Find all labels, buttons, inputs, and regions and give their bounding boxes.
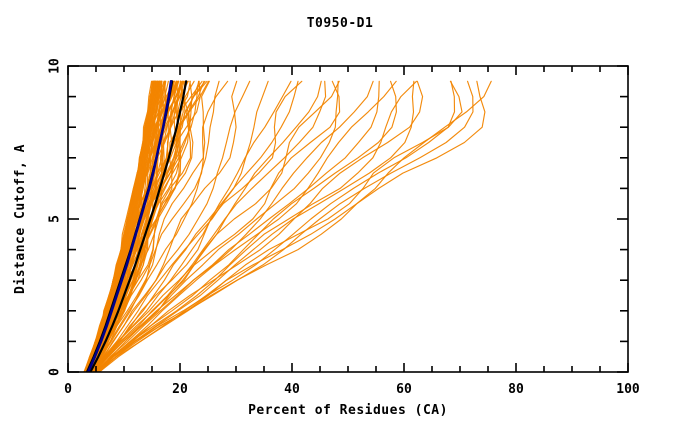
y-tick-label: 0 [48,368,63,376]
x-tick-label: 100 [616,382,640,397]
x-tick-label: 0 [64,382,72,397]
x-tick-label: 60 [396,382,412,397]
x-tick-label: 80 [508,382,524,397]
plot-canvas: 0204060801000510 Percent of Residues (CA… [0,0,680,440]
chart-root: T0950-D1 0204060801000510 Percent of Res… [0,0,680,440]
x-tick-label: 40 [284,382,300,397]
y-tick-label: 5 [48,215,63,223]
y-axis-title: Distance Cutoff, A [13,144,28,294]
data-curves-group [84,81,491,372]
x-tick-label: 20 [172,382,188,397]
ensemble-curve [94,81,291,372]
y-tick-label: 10 [48,58,63,74]
x-axis-title: Percent of Residues (CA) [248,403,448,418]
